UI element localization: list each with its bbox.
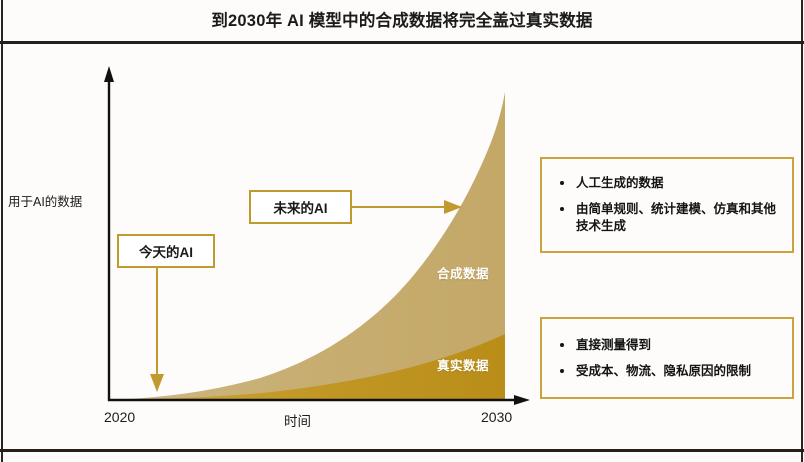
info-box-real-data: 直接测量得到 受成本、物流、隐私原因的限制 [540,317,794,399]
bullet-dot-icon [560,181,564,185]
today-arrow-head [150,374,164,392]
list-item: 直接测量得到 [558,337,778,354]
bullet-dot-icon [560,207,564,211]
callout-future-ai[interactable]: 未来的AI [249,190,352,224]
bullet-dot-icon [560,343,564,347]
x-axis-arrowhead [514,395,530,405]
band-label-real: 真实数据 [437,355,489,374]
x-axis-tick-start: 2020 [104,409,135,425]
band-label-synthetic: 合成数据 [437,263,489,282]
list-item: 受成本、物流、隐私原因的限制 [558,363,778,380]
bullet-list-synthetic: 人工生成的数据 由简单规则、统计建模、仿真和其他技术生成 [558,169,778,241]
footer-divider [0,449,804,452]
y-axis-label: 用于AI的数据 [8,191,82,210]
infographic-page: 到2030年 AI 模型中的合成数据将完全盖过真实数据 [0,0,804,462]
bullet-list-real: 直接测量得到 受成本、物流、隐私原因的限制 [558,329,778,387]
list-item: 由简单规则、统计建模、仿真和其他技术生成 [558,201,778,235]
bullet-text: 受成本、物流、隐私原因的限制 [576,364,751,378]
bullet-text: 直接测量得到 [576,338,651,352]
callout-today-ai[interactable]: 今天的AI [117,234,215,268]
page-title: 到2030年 AI 模型中的合成数据将完全盖过真实数据 [0,6,804,36]
bullet-text: 由简单规则、统计建模、仿真和其他技术生成 [576,202,776,233]
info-box-synthetic-data: 人工生成的数据 由简单规则、统计建模、仿真和其他技术生成 [540,157,794,253]
x-axis-label: 时间 [284,410,311,430]
list-item: 人工生成的数据 [558,175,778,192]
x-axis-tick-end: 2030 [481,409,512,425]
y-axis-arrowhead [104,66,114,82]
bullet-text: 人工生成的数据 [576,176,664,190]
bullet-dot-icon [560,369,564,373]
